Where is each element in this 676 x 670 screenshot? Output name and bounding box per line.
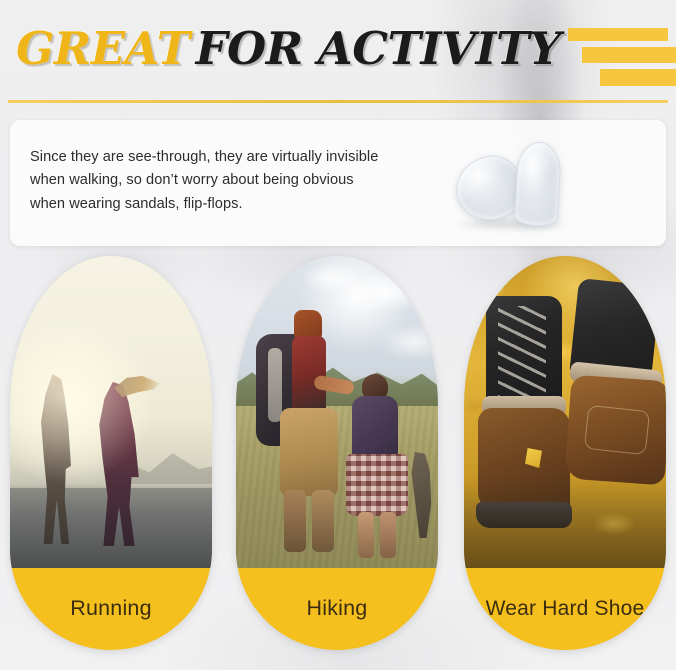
- description-panel: Since they are see-through, they are vir…: [10, 120, 666, 246]
- hiker-second-figure: [344, 374, 418, 554]
- page-title-word-for-activity: FOR ACTIVITY: [196, 22, 561, 75]
- boot-right-stitching: [584, 405, 650, 455]
- page-title: GREATFOR ACTIVITY: [16, 26, 561, 71]
- hiker2-backpack: [352, 396, 398, 462]
- activity-card-label-hiking: Hiking: [236, 568, 438, 650]
- banner-header: GREATFOR ACTIVITY: [0, 0, 676, 112]
- boot-left-laces: [498, 306, 546, 398]
- decor-bar-1: [568, 28, 668, 41]
- hiker-front-figure: [256, 308, 340, 548]
- activity-card-label-wear-hard-shoe: Wear Hard Shoe: [464, 568, 666, 650]
- backpack-strap: [268, 348, 282, 422]
- activity-card-running[interactable]: Running: [10, 256, 212, 650]
- gel-pad-right: [514, 141, 562, 227]
- activity-card-list: Running: [0, 256, 676, 656]
- hiker-torso: [292, 336, 326, 412]
- hard-shoe-photo: [464, 256, 666, 568]
- gel-toe-pads-photo: [440, 134, 650, 234]
- page-title-word-great: GREAT: [16, 22, 190, 75]
- boot-right: [568, 282, 666, 492]
- header-divider: [8, 100, 668, 103]
- hiker-shorts: [280, 408, 338, 496]
- activity-card-label-running: Running: [10, 568, 212, 650]
- hiking-photo: [236, 256, 438, 568]
- activity-card-hiking[interactable]: Hiking: [236, 256, 438, 650]
- description-text: Since they are see-through, they are vir…: [30, 146, 390, 216]
- sunrise-glow-overlay: [10, 256, 212, 568]
- activity-card-wear-hard-shoe[interactable]: Wear Hard Shoe: [464, 256, 666, 650]
- decor-bar-2: [582, 47, 676, 63]
- running-photo: [10, 256, 212, 568]
- decor-bar-3: [600, 69, 676, 86]
- product-feature-banner: GREATFOR ACTIVITY Since they are see-thr…: [0, 0, 676, 670]
- hiker-leg-left: [284, 490, 306, 552]
- hiker2-leg-right: [380, 512, 396, 558]
- hiker-leg-right: [312, 490, 334, 552]
- hiker2-plaid-skirt: [346, 454, 408, 516]
- wet-ground-shadow-overlay: [464, 476, 666, 568]
- hiker2-leg-left: [358, 512, 374, 558]
